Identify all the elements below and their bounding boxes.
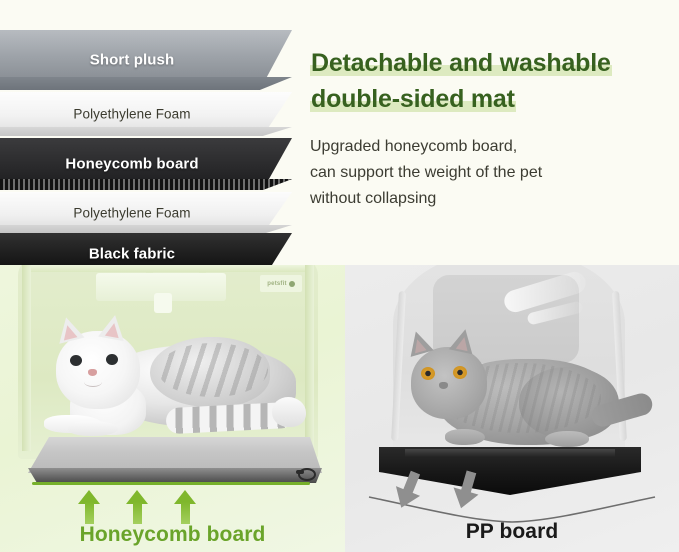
top-section: Short plush Polyethylene Foam Honeycomb … — [0, 0, 679, 265]
layer-polyethylene-foam-top: Polyethylene Foam — [0, 92, 292, 136]
material-layer-diagram: Short plush Polyethylene Foam Honeycomb … — [0, 30, 292, 245]
headline-line-2: double-sided mat — [310, 85, 516, 113]
cat-fur-stripes — [158, 343, 268, 397]
caption-honeycomb-board: Honeycomb board — [0, 523, 345, 547]
layer-label-polyethylene-foam-bottom: Polyethylene Foam — [0, 206, 264, 221]
body-line-1: Upgraded honeycomb board, — [310, 138, 517, 155]
brand-logo-badge: petsfit — [260, 275, 302, 292]
gray-mat-flat — [22, 437, 322, 485]
arrow-down-icon-1 — [388, 468, 427, 515]
arrow-up-icon-1 — [78, 490, 100, 524]
arrow-up-icon-3 — [174, 490, 196, 524]
cat-ear-inner-right — [105, 322, 121, 338]
layer-label-short-plush: Short plush — [0, 52, 264, 69]
body-line-2: can support the weight of the pet — [310, 164, 542, 181]
carrier-top-rail — [26, 265, 310, 272]
infographic-page: Short plush Polyethylene Foam Honeycomb … — [0, 0, 679, 552]
cat-eye-left — [421, 367, 435, 380]
upward-force-arrows — [78, 490, 218, 526]
carrier-post-right — [305, 265, 314, 451]
layer-label-black-fabric: Black fabric — [0, 246, 264, 263]
caption-pp-board: PP board — [345, 520, 679, 544]
body-line-3: without collapsing — [310, 190, 436, 207]
mat-top-surface — [22, 437, 322, 473]
comparison-pane-honeycomb: petsfit — [0, 265, 345, 552]
cat-mouth — [84, 377, 102, 387]
cat-paw-front-right — [68, 421, 118, 436]
cat-paw-front-right — [545, 431, 589, 447]
cat-head — [411, 347, 487, 419]
cat-tail-tip — [272, 397, 306, 427]
layer-label-polyethylene-foam-top: Polyethylene Foam — [0, 107, 264, 122]
cat-gray — [393, 333, 653, 458]
layer-polyethylene-foam-bottom: Polyethylene Foam — [0, 192, 292, 234]
cat-eye-left — [70, 355, 82, 366]
layer-honeycomb-board: Honeycomb board — [0, 138, 292, 190]
comparison-pane-pp: PP board — [345, 265, 679, 552]
headline-block: Detachable and washable double-sided mat… — [310, 46, 670, 212]
layer-label-honeycomb-board: Honeycomb board — [0, 156, 264, 173]
cat-nose — [88, 369, 97, 376]
zipper-pull-icon — [296, 467, 316, 479]
carrier-post-left — [22, 265, 31, 451]
body-copy: Upgraded honeycomb board, can support th… — [310, 134, 670, 212]
headline: Detachable and washable double-sided mat — [310, 46, 670, 117]
arrow-up-icon-2 — [126, 490, 148, 524]
arrow-down-icon-2 — [448, 468, 484, 514]
headline-line-1: Detachable and washable — [310, 49, 612, 77]
cat-eye-right — [453, 366, 467, 379]
carrier-clip — [154, 293, 172, 313]
comparison-section: petsfit — [0, 265, 679, 552]
cat-eye-right — [106, 354, 118, 365]
flat-support-line — [32, 482, 310, 485]
mat-side-edge — [22, 468, 322, 483]
cat-silver-tabby — [40, 317, 305, 437]
brand-logo-text: petsfit — [267, 281, 286, 287]
layer-short-plush: Short plush — [0, 30, 292, 90]
cat-nose — [439, 382, 448, 389]
corrugated-edge-texture — [0, 179, 292, 190]
downward-force-arrows — [395, 471, 637, 515]
cat-paw-front-left — [445, 429, 485, 445]
brand-logo-dot-icon — [289, 281, 295, 287]
cat-head — [56, 331, 140, 409]
